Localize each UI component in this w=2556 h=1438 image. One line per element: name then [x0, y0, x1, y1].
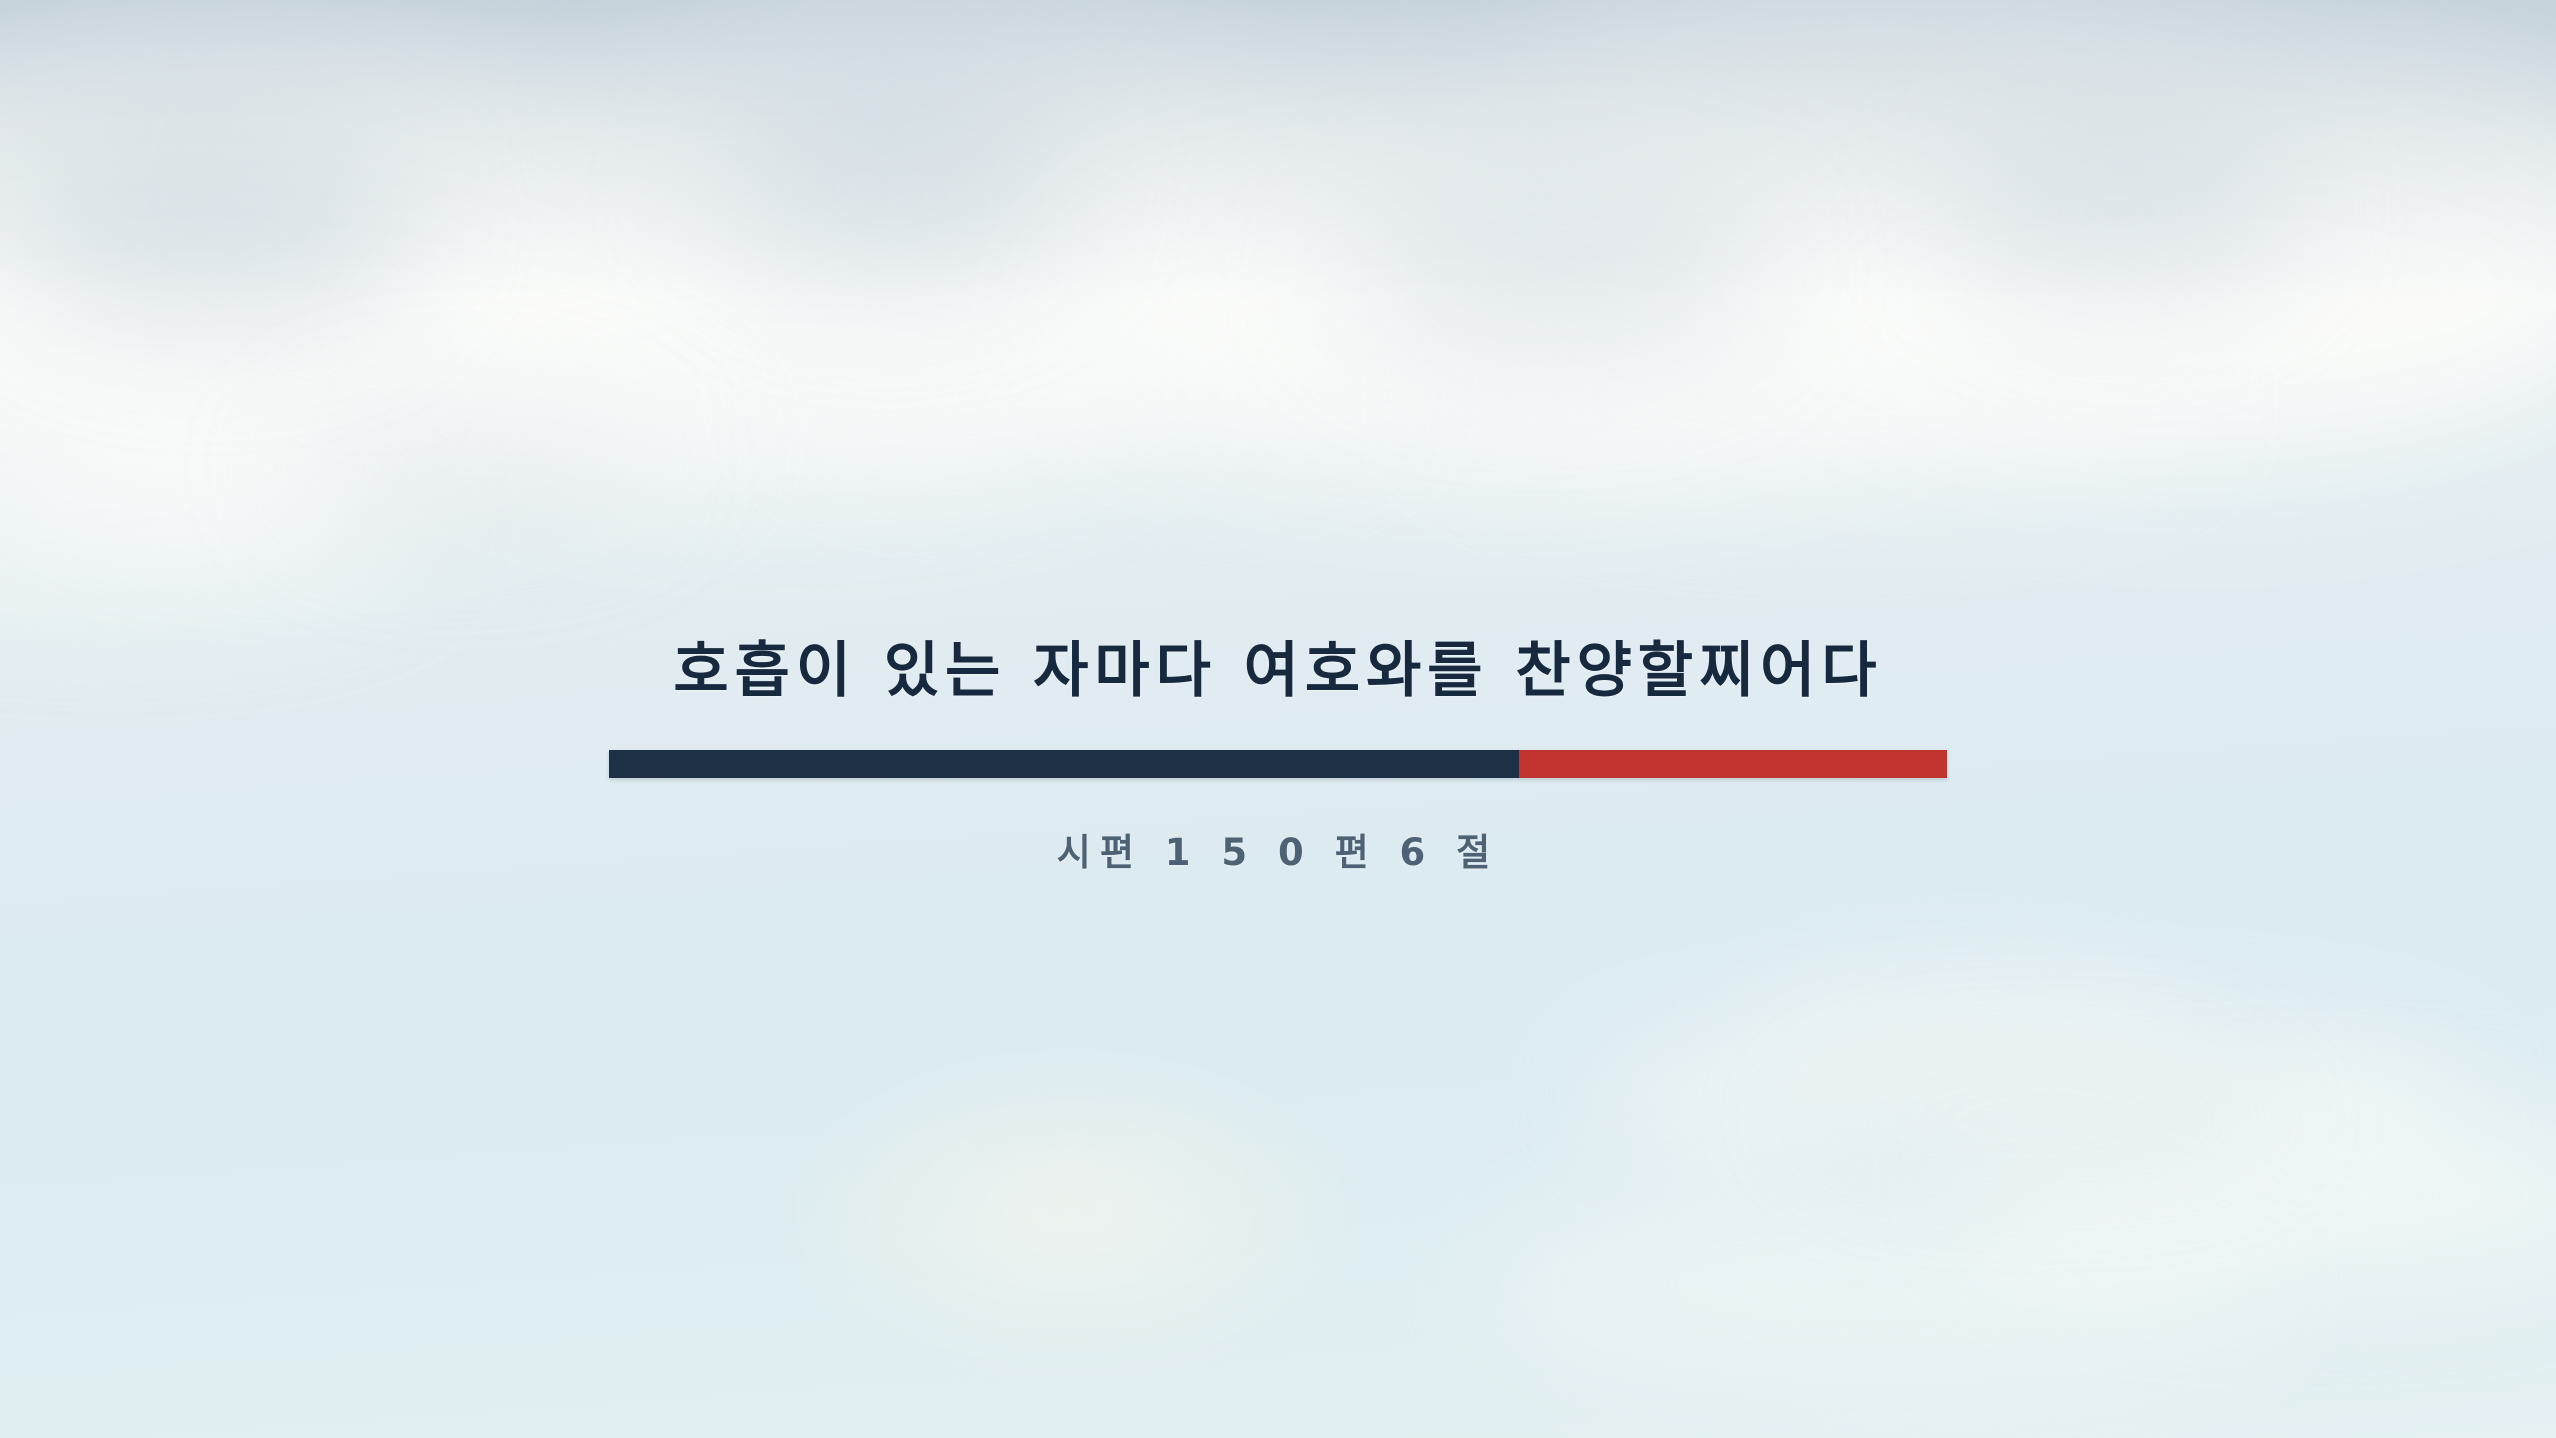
verse-reference: 시편 1 5 0 편 6 절	[0, 822, 2556, 876]
divider-bar	[609, 750, 1947, 778]
divider-segment-red	[1519, 750, 1947, 778]
verse-text: 호흡이 있는 자마다 여호와를 찬양할찌어다	[0, 636, 2556, 707]
verse-block: 호흡이 있는 자마다 여호와를 찬양할찌어다 시편 1 5 0 편 6 절	[0, 636, 2556, 876]
divider-segment-navy	[609, 750, 1519, 778]
scripture-slide: 호흡이 있는 자마다 여호와를 찬양할찌어다 시편 1 5 0 편 6 절	[0, 0, 2556, 1438]
